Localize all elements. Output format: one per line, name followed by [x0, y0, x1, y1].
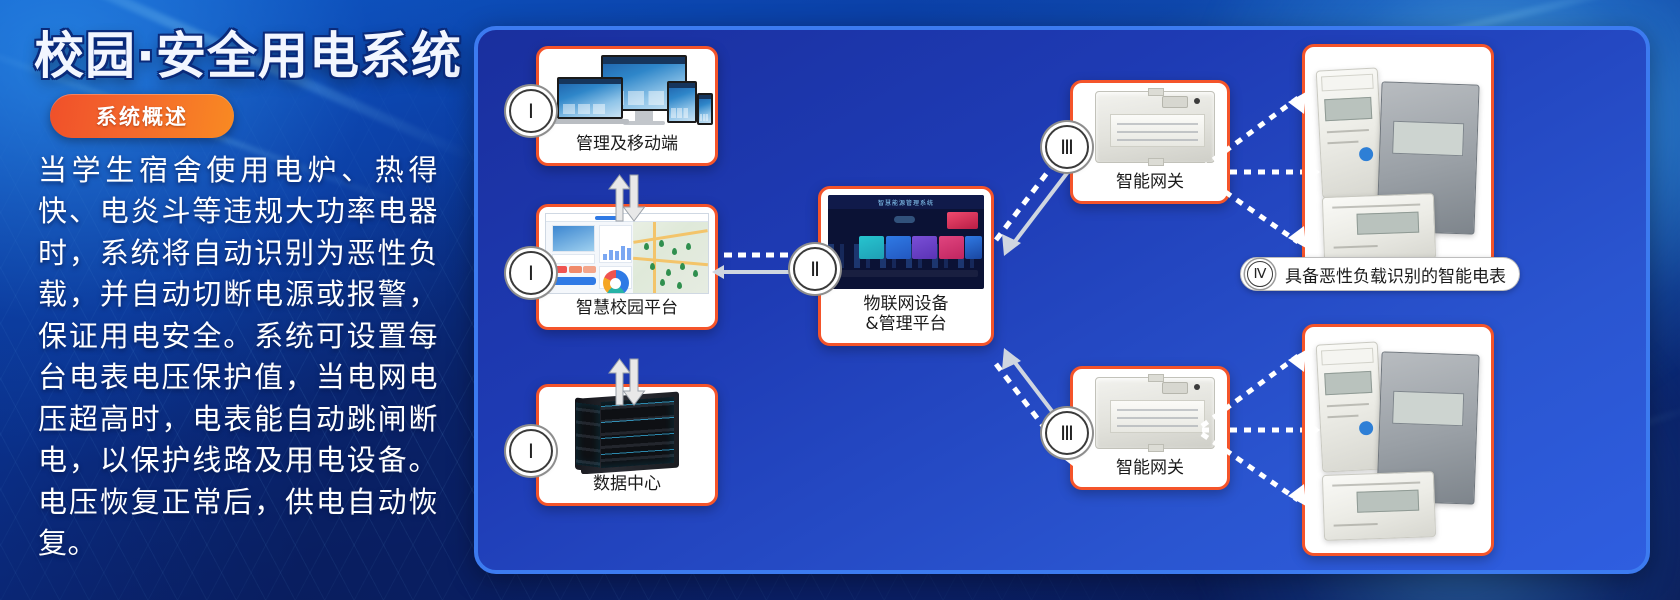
meters-panel-top[interactable]	[1302, 44, 1494, 276]
node-badge-roman-5: Ⅲ	[1045, 125, 1089, 169]
meters-panel-bottom[interactable]	[1302, 324, 1494, 556]
node-badge-roman-6: Ⅲ	[1045, 411, 1089, 455]
din-rail-meter-icon-1	[1322, 193, 1436, 263]
phone-icon	[697, 93, 713, 125]
overview-badge-label: 系统概述	[96, 101, 188, 131]
node-iot-platform[interactable]: Ⅱ 智慧能源管理系统 物联网设备 &管理平台	[818, 186, 994, 346]
single-phase-meter-icon-1	[1316, 67, 1385, 198]
meters-caption-text: 具备恶性负载识别的智能电表	[1285, 262, 1506, 287]
connector-gateway-top-meters	[1194, 76, 1322, 252]
laptop-icon	[557, 77, 623, 119]
connector-admin-campus	[604, 173, 648, 223]
overview-badge: 系统概述	[50, 94, 234, 138]
intro-column: 校园·安全用电系统 系统概述 当学生宿舍使用电炉、热得快、电炎斗等违规大功率电器…	[0, 0, 470, 600]
node-label-smart-campus: 智慧校园平台	[539, 298, 715, 327]
architecture-diagram-panel: Ⅰ 管理及移动端 Ⅰ	[474, 26, 1650, 574]
page-title: 校园·安全用电系统	[34, 16, 462, 88]
node-label-data-center: 数据中心	[539, 474, 715, 503]
meters-caption-roman: Ⅳ	[1247, 261, 1273, 287]
monitor-stand	[635, 111, 653, 121]
connector-campus-datacenter	[604, 357, 648, 407]
node-badge-roman-1: Ⅰ	[509, 89, 553, 133]
iot-platform-dashboard-art: 智慧能源管理系统	[821, 189, 991, 294]
tablet-icon	[667, 81, 697, 123]
server-rack-side	[575, 397, 601, 472]
node-badge-roman-3: Ⅰ	[509, 429, 553, 473]
admin-mobile-devices-art	[539, 49, 715, 134]
laptop-base	[551, 119, 629, 124]
node-label-iot-line2: &管理平台	[821, 314, 991, 335]
poster-canvas: 校园·安全用电系统 系统概述 当学生宿舍使用电炉、热得快、电炎斗等违规大功率电器…	[0, 0, 1680, 600]
single-phase-meter-icon-2	[1316, 341, 1385, 472]
node-label-iot-platform: 物联网设备 &管理平台	[821, 294, 991, 343]
monitor-base	[623, 121, 665, 125]
node-admin-mobile[interactable]: Ⅰ 管理及移动端	[536, 46, 718, 166]
node-label-admin-mobile: 管理及移动端	[539, 134, 715, 163]
system-description: 当学生宿舍使用电炉、热得快、电炎斗等违规大功率电器时，系统将自动识别为恶性负载，…	[38, 150, 438, 565]
node-badge-roman-2: Ⅰ	[509, 251, 553, 295]
meters-caption-pill: Ⅳ 具备恶性负载识别的智能电表	[1240, 257, 1520, 291]
node-label-iot-line1: 物联网设备	[821, 294, 991, 315]
connector-gateway-bottom-meters	[1194, 338, 1322, 514]
node-badge-roman-4: Ⅱ	[793, 247, 837, 291]
din-rail-meter-icon-2	[1322, 471, 1436, 541]
